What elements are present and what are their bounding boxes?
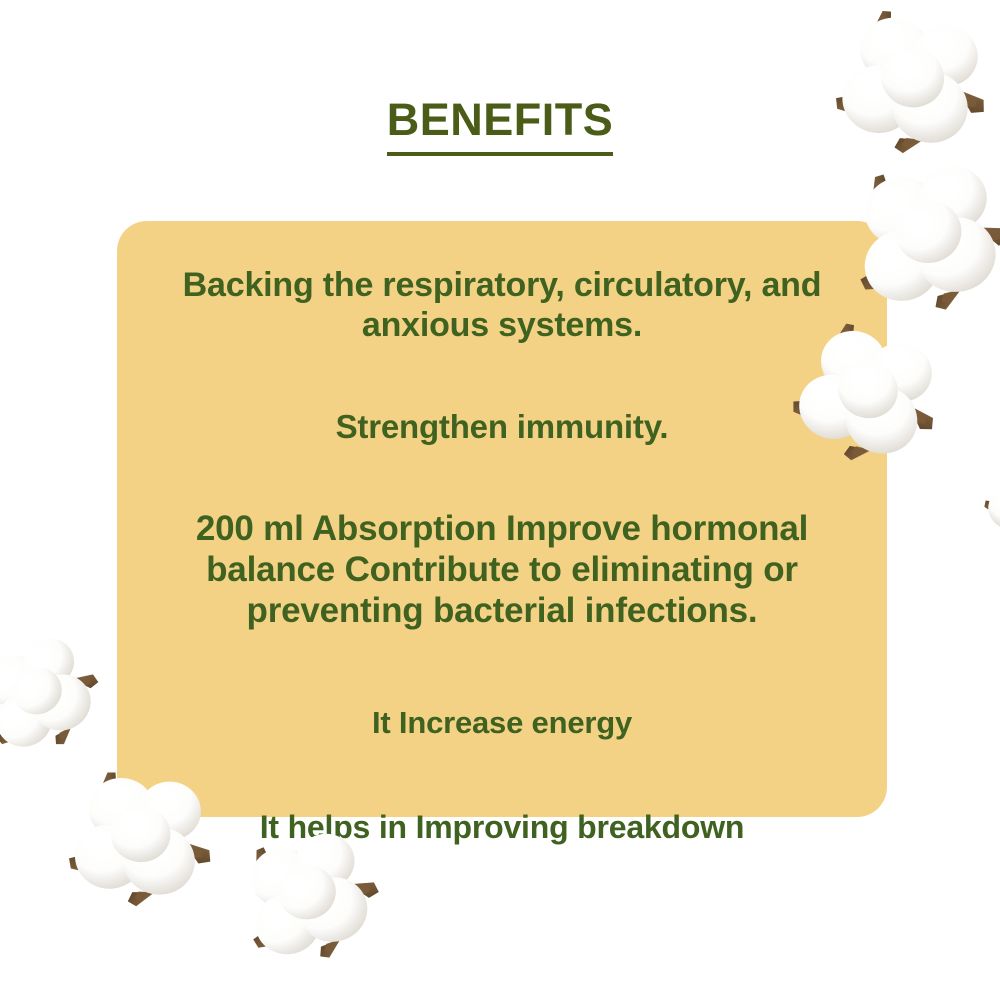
benefit-item-5: It helps in Improving breakdown xyxy=(149,809,855,846)
cotton-boll-icon xyxy=(0,613,119,773)
page-title-container: BENEFITS xyxy=(0,96,1000,156)
benefits-poster: BENEFITS Backing the respiratory, circul… xyxy=(0,0,1000,1000)
benefit-item-4: It Increase energy xyxy=(149,705,855,741)
cotton-boll-icon xyxy=(968,441,1000,568)
benefit-item-2: Strengthen immunity. xyxy=(149,408,855,447)
benefit-item-1: Backing the respiratory, circulatory, an… xyxy=(149,266,855,346)
page-title: BENEFITS xyxy=(387,96,614,156)
benefits-list: Backing the respiratory, circulatory, an… xyxy=(117,221,887,817)
benefit-item-3: 200 ml Absorption Improve hormonal balan… xyxy=(149,509,855,632)
benefits-card: Backing the respiratory, circulatory, an… xyxy=(117,221,887,817)
